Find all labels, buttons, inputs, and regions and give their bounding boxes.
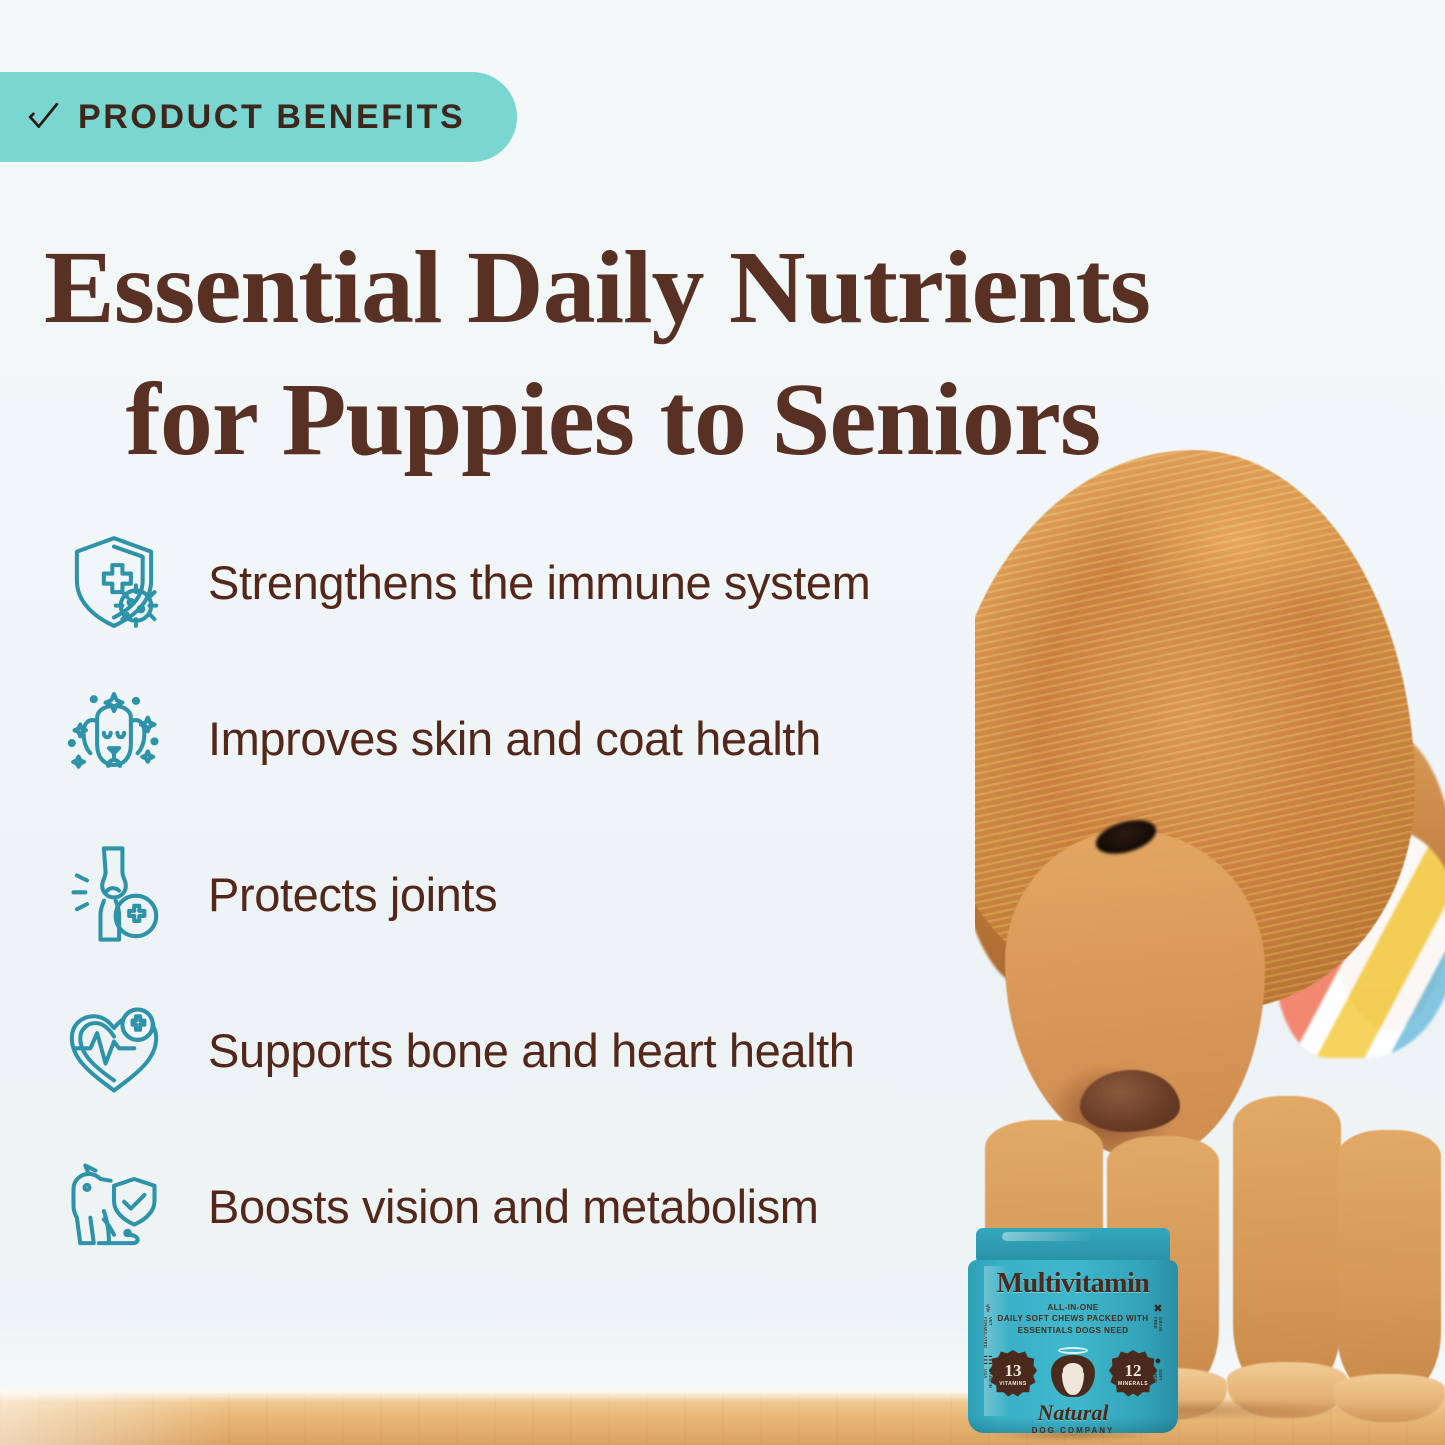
brand-lockup: Natural DOG COMPANY [968,1402,1178,1433]
benefit-item-bone-heart: Supports bone and heart health [60,996,1060,1104]
benefit-label: Strengthens the immune system [208,555,870,610]
jar-side-badge-usa: ☷ MADE IN USA [978,1356,998,1395]
shield-virus-icon [60,528,168,636]
side-badge-caption: VET FORMULATED [983,1317,993,1343]
brand-name: Natural [968,1402,1178,1424]
jar-side-badge-vet: ⚕ VET FORMULATED [978,1304,998,1343]
benefit-label: Protects joints [208,867,497,922]
frenchie-eye [1058,1368,1063,1374]
product-name: Multivitamin [968,1270,1178,1298]
badge-label: PRODUCT BENEFITS [78,98,465,137]
headline-line-2: for Puppies to Seniors [44,354,1441,486]
jar-lid-highlight [1002,1232,1092,1241]
dog-leg [1337,1130,1441,1396]
dog-shield-icon [60,1152,168,1260]
vitamins-caption: VITAMINS [999,1381,1027,1387]
chewable-icon: ● [1155,1356,1162,1367]
product-benefits-infographic: PRODUCT BENEFITS Essential Daily Nutrien… [0,0,1445,1445]
benefit-item-immune: Strengthens the immune system [60,528,1060,636]
page-title: Essential Daily Nutrients for Puppies to… [44,222,1441,486]
heart-pulse-icon [60,996,168,1104]
benefit-item-vision-metabolism: Boosts vision and metabolism [60,1152,1060,1260]
made-in-usa-icon: ☷ [983,1356,993,1367]
product-jar: Multivitamin ALL-IN-ONE DAILY SOFT CHEWS… [962,1228,1184,1433]
halo-icon [1058,1347,1088,1354]
brand-subtitle: DOG COMPANY [968,1426,1178,1433]
benefit-label: Boosts vision and metabolism [208,1179,819,1234]
grain-free-icon: ✖ [1153,1304,1162,1315]
jar-seal-row: 13 VITAMINS 12 MINERALS [968,1346,1178,1402]
product-benefits-badge: PRODUCT BENEFITS [0,72,517,162]
benefit-label: Supports bone and heart health [208,1023,855,1078]
jar-side-badge-grain: ✖ GRAIN FREE [1148,1304,1168,1343]
jar-lid [976,1228,1170,1262]
bone-joint-icon [60,840,168,948]
benefits-list: Strengthens the immune system [60,528,1060,1260]
jar-side-badge-chew: ● SOFT CHEW [1148,1356,1168,1395]
jar-body-label: Multivitamin ALL-IN-ONE DAILY SOFT CHEWS… [968,1260,1178,1433]
benefit-label: Improves skin and coat health [208,711,821,766]
vet-formulated-icon: ⚕ [985,1304,991,1315]
product-subtitle-line-1: ALL-IN-ONE [968,1302,1178,1313]
dog-leg [1233,1096,1341,1396]
benefit-item-joints: Protects joints [60,840,1060,948]
minerals-caption: MINERALS [1118,1381,1148,1387]
product-subtitle: ALL-IN-ONE DAILY SOFT CHEWS PACKED WITH … [968,1302,1178,1336]
check-icon [26,100,60,134]
minerals-count: 12 [1125,1362,1142,1379]
frenchie-eye [1083,1368,1088,1374]
side-badge-caption: GRAIN FREE [1153,1317,1163,1343]
frenchie-logo-icon [1047,1347,1099,1401]
vitamins-count: 13 [1005,1362,1022,1379]
product-subtitle-line-2: DAILY SOFT CHEWS PACKED WITH [968,1313,1178,1324]
dog-face-sparkle-icon [60,684,168,792]
product-subtitle-line-3: ESSENTIALS DOGS NEED [968,1325,1178,1336]
side-badge-caption: SOFT CHEW [1153,1369,1163,1395]
benefit-item-skin-coat: Improves skin and coat health [60,684,1060,792]
headline-line-1: Essential Daily Nutrients [44,230,1150,345]
side-badge-caption: MADE IN USA [983,1369,993,1395]
floor-left-light [0,1393,230,1445]
